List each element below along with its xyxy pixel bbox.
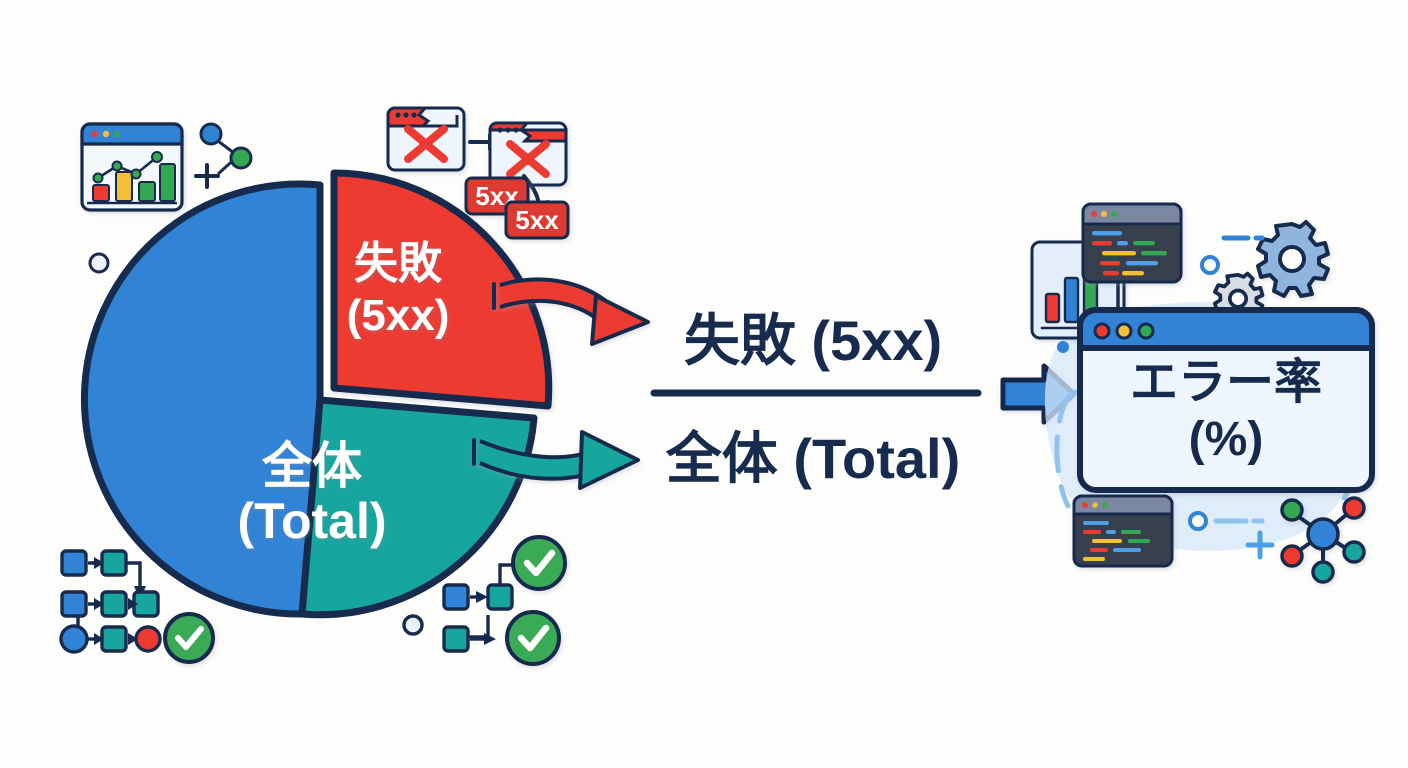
node-link-plus-icon <box>196 124 251 187</box>
code-window-icon <box>1083 204 1181 282</box>
result-title-line2: (%) <box>1189 413 1264 466</box>
broken-window-error-icon <box>388 108 464 170</box>
window-dot-yellow <box>1117 324 1131 338</box>
broken-window-error-icon <box>490 123 566 185</box>
check-circle-icon <box>165 614 213 662</box>
badge-5xx-label: 5xx <box>515 205 559 235</box>
status-badge-5xx: 5xx <box>506 202 568 238</box>
diagram-svg: 5xx 5xx 失敗 (5xx) 全体 (Total) <box>0 0 1408 768</box>
check-circle-icon <box>513 537 565 589</box>
window-dot-green <box>1139 324 1153 338</box>
circle-outline-icon <box>1202 257 1218 273</box>
dot-icon <box>1057 341 1069 353</box>
result-window: エラー率 (%) <box>1080 310 1372 490</box>
analytics-window-icon <box>82 124 182 210</box>
circle-outline-icon <box>1190 513 1206 529</box>
pie-chart: 失敗 (5xx) 全体 (Total) <box>84 173 548 615</box>
window-dot-red <box>1095 324 1109 338</box>
formula-numerator: 失敗 (5xx) <box>684 309 942 372</box>
pie-label-failure-line2: (5xx) <box>347 291 450 340</box>
infographic-canvas: 5xx 5xx 失敗 (5xx) 全体 (Total) <box>0 0 1408 768</box>
pie-label-failure-line1: 失敗 <box>354 239 443 288</box>
pie-label-total-line2: (Total) <box>237 493 386 549</box>
check-circle-icon <box>507 612 559 664</box>
pie-label-total-line1: 全体 <box>261 438 362 494</box>
circle-outline-icon <box>90 254 108 272</box>
circle-outline-icon <box>404 616 422 634</box>
plus-icon <box>196 165 218 187</box>
result-title-line1: エラー率 <box>1130 356 1322 409</box>
formula-denominator: 全体 (Total) <box>665 427 960 490</box>
code-window-icon <box>1074 496 1172 566</box>
error-rate-formula: 失敗 (5xx) 全体 (Total) <box>654 309 978 490</box>
